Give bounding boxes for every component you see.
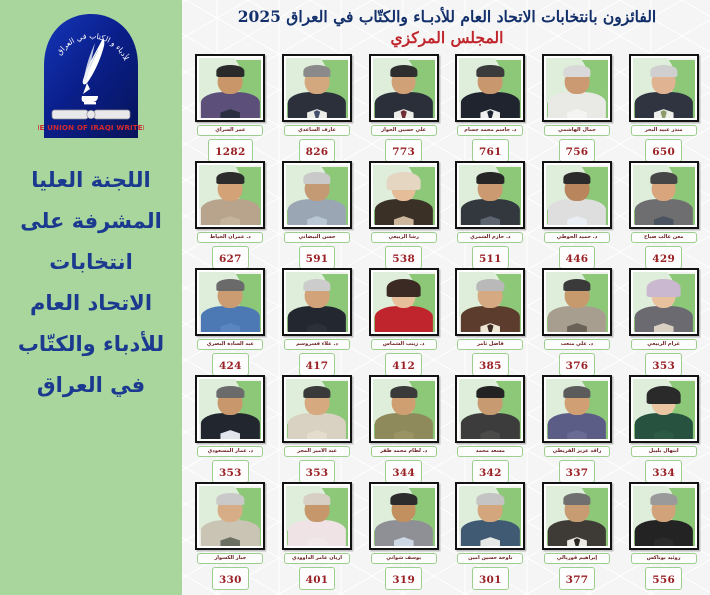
winner-name: مسعد محمد	[462, 448, 518, 454]
portrait-torso	[461, 92, 519, 118]
portrait-torso	[375, 199, 433, 225]
winner-photo-frame	[542, 482, 612, 550]
winner-portrait-silhouette	[633, 272, 695, 332]
winner-cell: معن غالب صباح429	[621, 159, 706, 266]
winner-votes-box: 330	[212, 567, 249, 590]
portrait-torso	[288, 306, 346, 332]
winner-name: رشا الربيعي	[376, 234, 432, 240]
winner-name: عمر السراي	[202, 127, 258, 133]
portrait-torso	[635, 306, 693, 332]
winners-grid: منذر عبيد البحر650جمال الهاشمي756د. جاسم…	[188, 52, 706, 587]
winner-photo	[546, 379, 608, 439]
portrait-hair	[646, 279, 681, 297]
winner-portrait-silhouette	[286, 272, 348, 332]
winner-votes: 353	[652, 360, 675, 372]
winner-portrait-silhouette	[633, 58, 695, 118]
winner-cell: د. عمار المسعودي353	[188, 373, 273, 480]
winner-photo-frame	[455, 482, 525, 550]
winner-photo	[199, 379, 261, 439]
winner-name: جمال الهاشمي	[549, 127, 605, 133]
winner-cell: فاضل ثامر385	[448, 266, 533, 373]
winner-name: د. حميد الحوطي	[549, 234, 605, 240]
winner-name-box: مسعد محمد	[457, 446, 523, 457]
portrait-hair	[217, 279, 244, 291]
winner-votes: 412	[392, 360, 415, 372]
winner-votes: 446	[566, 253, 589, 265]
winner-photo-frame	[195, 375, 265, 443]
winner-photo-frame	[629, 54, 699, 122]
winner-photo	[286, 272, 348, 332]
page-subtitle: المجلس المركزي	[188, 28, 706, 48]
winner-votes-box: 377	[559, 567, 596, 590]
winner-photo-frame	[629, 375, 699, 443]
winner-name-box: د. زينب الشماس	[371, 339, 437, 350]
portrait-torso	[375, 92, 433, 118]
winner-name-box: د. حميد الحوطي	[544, 232, 610, 243]
winner-name-box: د. علاء فسروسم	[284, 339, 350, 350]
winner-photo-frame	[455, 268, 525, 336]
winner-name-box: فاضل ثامر	[457, 339, 523, 350]
winner-votes: 401	[306, 574, 329, 586]
portrait-hair	[217, 172, 244, 184]
sidebar: الاتحاد العام للأدباء و الكتاب في العراق…	[0, 0, 182, 595]
winner-votes-box: 556	[645, 567, 682, 590]
winner-name-box: رشا الربيعي	[371, 232, 437, 243]
winner-name-box: إبراهيم قوربالي	[544, 553, 610, 564]
portrait-hair	[477, 386, 504, 398]
union-of-iraqi-writers-logo-icon: الاتحاد العام للأدباء و الكتاب في العراق…	[38, 10, 144, 138]
winner-photo	[633, 165, 695, 225]
portrait-hair	[390, 386, 417, 398]
winner-name: أريان عامر الداوودي	[289, 555, 345, 561]
winner-cell: جمال الهاشمي756	[535, 52, 620, 159]
winner-photo	[373, 165, 435, 225]
winner-name: معن غالب صباح	[636, 234, 692, 240]
portrait-shirt	[307, 323, 327, 332]
winner-votes: 424	[219, 360, 242, 372]
winner-photo-frame	[369, 161, 439, 229]
winner-photo-frame	[629, 268, 699, 336]
winner-votes: 337	[566, 467, 589, 479]
portrait-hair	[303, 386, 330, 398]
portrait-torso	[548, 199, 606, 225]
portrait-shirt	[220, 537, 240, 546]
portrait-shirt	[394, 216, 414, 225]
winner-name-box: ابتهال بليبل	[631, 446, 697, 457]
portrait-shirt	[567, 430, 587, 439]
winner-name-box: د. حازم الشمري	[457, 232, 523, 243]
winner-cell: أريان عامر الداوودي401	[275, 480, 360, 587]
portrait-torso	[375, 306, 433, 332]
winner-photo-frame	[542, 161, 612, 229]
winner-photo	[546, 486, 608, 546]
winner-photo-frame	[195, 482, 265, 550]
portrait-shirt	[480, 430, 500, 439]
winner-name-box: عبد السادة البصري	[197, 339, 263, 350]
portrait-torso	[201, 413, 259, 439]
winner-name: إبراهيم قوربالي	[549, 555, 605, 561]
portrait-hair	[390, 65, 417, 77]
winner-photo	[633, 379, 695, 439]
winner-cell: عبد الأمير المجر353	[275, 373, 360, 480]
winner-votes: 627	[219, 253, 242, 265]
portrait-torso	[635, 413, 693, 439]
winner-name: د. زينب الشماس	[376, 341, 432, 347]
winner-votes: 429	[652, 253, 675, 265]
winner-portrait-silhouette	[459, 272, 521, 332]
winner-votes-box: 301	[472, 567, 509, 590]
portrait-torso	[461, 306, 519, 332]
winner-photo	[459, 58, 521, 118]
winner-portrait-silhouette	[199, 486, 261, 546]
winner-photo	[199, 58, 261, 118]
portrait-torso	[461, 413, 519, 439]
winner-name-box: علي حسين الخواز	[371, 125, 437, 136]
portrait-hair	[563, 279, 590, 291]
winner-name: د. علاء فسروسم	[289, 341, 345, 347]
winner-portrait-silhouette	[373, 165, 435, 225]
portrait-hair	[650, 172, 677, 184]
winner-photo	[373, 486, 435, 546]
winner-name-box: رافد عزيز الفريطي	[544, 446, 610, 457]
winner-name-box: أريان عامر الداوودي	[284, 553, 350, 564]
portrait-torso	[201, 520, 259, 546]
winner-photo	[373, 58, 435, 118]
winner-photo	[459, 486, 521, 546]
winner-votes: 773	[392, 146, 415, 158]
winner-votes: 344	[392, 467, 415, 479]
portrait-shirt	[654, 430, 674, 439]
portrait-hair	[563, 386, 590, 398]
winner-votes: 756	[566, 146, 589, 158]
portrait-shirt	[220, 216, 240, 225]
winner-portrait-silhouette	[286, 165, 348, 225]
winner-votes: 353	[219, 467, 242, 479]
winner-votes: 377	[566, 574, 589, 586]
winner-cell: غرام الربيعي353	[621, 266, 706, 373]
winner-votes: 353	[306, 467, 329, 479]
winner-photo-frame	[542, 268, 612, 336]
winner-cell: روئيد بوناكس556	[621, 480, 706, 587]
portrait-torso	[201, 306, 259, 332]
winner-name-box: عبد الأمير المجر	[284, 446, 350, 457]
portrait-hair	[477, 493, 504, 505]
winner-name: عبد السادة البصري	[202, 341, 258, 347]
winner-portrait-silhouette	[199, 379, 261, 439]
winner-photo	[199, 486, 261, 546]
portrait-shirt	[307, 216, 327, 225]
winner-photo	[286, 379, 348, 439]
winner-cell: عبد السادة البصري424	[188, 266, 273, 373]
winner-photo	[633, 58, 695, 118]
portrait-torso	[461, 199, 519, 225]
portrait-torso	[288, 92, 346, 118]
winner-cell: د. علاء فسروسم417	[275, 266, 360, 373]
portrait-shirt	[220, 430, 240, 439]
winner-name: د. عمار المسعودي	[202, 448, 258, 454]
committee-line: في العراق	[4, 365, 178, 406]
winner-name-box: روئيد بوناكس	[631, 553, 697, 564]
poster-header: الفائزون بانتخابات الاتحاد العام للأدبـا…	[188, 5, 706, 48]
portrait-torso	[548, 306, 606, 332]
winner-cell: علي حسين الخواز773	[361, 52, 446, 159]
winner-portrait-silhouette	[286, 379, 348, 439]
winner-name-box: د. علي متعب	[544, 339, 610, 350]
portrait-shirt	[654, 323, 674, 332]
winner-photo	[459, 379, 521, 439]
portrait-shirt	[307, 537, 327, 546]
winner-name: ناوخة حسين أمين	[462, 555, 518, 561]
portrait-torso	[461, 520, 519, 546]
winner-portrait-silhouette	[459, 58, 521, 118]
winner-photo-frame	[369, 375, 439, 443]
committee-line: انتخابات	[4, 242, 178, 283]
winner-name: د. حازم الشمري	[462, 234, 518, 240]
winner-photo-frame	[629, 161, 699, 229]
portrait-hair	[386, 172, 421, 190]
portrait-torso	[201, 92, 259, 118]
winner-votes: 301	[479, 574, 502, 586]
winner-photo	[373, 272, 435, 332]
winner-name: د. لطام محمد ظفر	[376, 448, 432, 454]
portrait-torso	[288, 199, 346, 225]
winner-photo	[633, 272, 695, 332]
winner-photo-frame	[195, 54, 265, 122]
winner-name: علي حسين الخواز	[376, 127, 432, 133]
winner-name-box: يوسف شواني	[371, 553, 437, 564]
winner-photo	[546, 165, 608, 225]
winner-votes: 319	[392, 574, 415, 586]
portrait-shirt	[480, 216, 500, 225]
winner-votes: 538	[392, 253, 415, 265]
winner-name: جبار الكسوار	[202, 555, 258, 561]
winner-cell: ابتهال بليبل334	[621, 373, 706, 480]
winner-name-box: ناوخة حسين أمين	[457, 553, 523, 564]
winner-portrait-silhouette	[199, 58, 261, 118]
winner-portrait-silhouette	[199, 272, 261, 332]
winner-name: د. عمران الخياط	[202, 234, 258, 240]
winner-photo	[373, 379, 435, 439]
winner-name: عبد الأمير المجر	[289, 448, 345, 454]
winner-photo	[546, 58, 608, 118]
winner-portrait-silhouette	[373, 379, 435, 439]
winner-cell: د. عمران الخياط627	[188, 159, 273, 266]
winner-cell: عارف الساعدي826	[275, 52, 360, 159]
winner-photo	[286, 58, 348, 118]
portrait-torso	[548, 413, 606, 439]
winner-cell: د. زينب الشماس412	[361, 266, 446, 373]
portrait-hair	[217, 493, 244, 505]
portrait-shirt	[220, 323, 240, 332]
winner-portrait-silhouette	[286, 486, 348, 546]
winner-photo-frame	[369, 482, 439, 550]
winner-name-box: منذر عبيد البحر	[631, 125, 697, 136]
winner-photo-frame	[455, 161, 525, 229]
winner-photo	[199, 272, 261, 332]
winner-votes: 385	[479, 360, 502, 372]
portrait-hair	[477, 172, 504, 184]
portrait-hair	[390, 493, 417, 505]
winner-name: غرام الربيعي	[636, 341, 692, 347]
winner-photo-frame	[282, 482, 352, 550]
portrait-hair	[477, 279, 504, 291]
portrait-hair	[563, 65, 590, 77]
winner-portrait-silhouette	[373, 272, 435, 332]
portrait-shirt	[654, 216, 674, 225]
winner-votes: 376	[566, 360, 589, 372]
portrait-torso	[288, 413, 346, 439]
portrait-torso	[635, 92, 693, 118]
winner-name-box: جبار الكسوار	[197, 553, 263, 564]
winner-name: روئيد بوناكس	[636, 555, 692, 561]
winner-name-box: عارف الساعدي	[284, 125, 350, 136]
winner-name: منذر عبيد البحر	[636, 127, 692, 133]
winner-photo-frame	[542, 54, 612, 122]
portrait-torso	[548, 520, 606, 546]
winner-name-box: معن غالب صباح	[631, 232, 697, 243]
portrait-shirt	[307, 430, 327, 439]
portrait-hair	[303, 65, 330, 77]
svg-text:THE UNION OF IRAQI WRITERS: THE UNION OF IRAQI WRITERS	[38, 123, 144, 132]
portrait-shirt	[567, 109, 587, 118]
winner-votes-box: 401	[299, 567, 336, 590]
content-area: الفائزون بانتخابات الاتحاد العام للأدبـا…	[182, 0, 710, 595]
winner-votes: 511	[479, 253, 502, 265]
winner-photo	[286, 165, 348, 225]
winner-photo-frame	[369, 54, 439, 122]
winner-cell: رافد عزيز الفريطي337	[535, 373, 620, 480]
committee-line: للأدباء والكتّاب	[4, 324, 178, 365]
winner-cell: د. لطام محمد ظفر344	[361, 373, 446, 480]
winner-name: فاضل ثامر	[462, 341, 518, 347]
winner-portrait-silhouette	[199, 165, 261, 225]
winner-name-box: حسن البيضاني	[284, 232, 350, 243]
winner-name-box: جمال الهاشمي	[544, 125, 610, 136]
committee-line: اللجنة العليا	[4, 160, 178, 201]
winner-votes: 591	[306, 253, 329, 265]
portrait-torso	[548, 92, 606, 118]
winner-cell: حسن البيضاني591	[275, 159, 360, 266]
winner-photo	[546, 272, 608, 332]
winner-cell: د. علي متعب376	[535, 266, 620, 373]
winner-cell: عمر السراي1282	[188, 52, 273, 159]
portrait-shirt	[394, 537, 414, 546]
committee-line: المشرفة على	[4, 201, 178, 242]
portrait-hair	[303, 279, 330, 291]
winner-photo-frame	[542, 375, 612, 443]
winner-portrait-silhouette	[546, 486, 608, 546]
winner-photo-frame	[195, 161, 265, 229]
winner-name: د. جاسم محمد جسام	[462, 127, 518, 133]
winner-name-box: عمر السراي	[197, 125, 263, 136]
portrait-hair	[563, 493, 590, 505]
winner-votes: 826	[306, 146, 329, 158]
winner-votes: 761	[479, 146, 502, 158]
winner-votes: 342	[479, 467, 502, 479]
winner-portrait-silhouette	[459, 379, 521, 439]
winner-photo	[199, 165, 261, 225]
winner-votes: 650	[652, 146, 675, 158]
portrait-hair	[303, 493, 330, 505]
winner-name-box: د. عمران الخياط	[197, 232, 263, 243]
winner-cell: د. حازم الشمري511	[448, 159, 533, 266]
winner-name-box: د. لطام محمد ظفر	[371, 446, 437, 457]
portrait-torso	[635, 199, 693, 225]
winner-photo-frame	[195, 268, 265, 336]
winner-portrait-silhouette	[459, 486, 521, 546]
portrait-shirt	[654, 537, 674, 546]
portrait-hair	[303, 172, 330, 184]
portrait-hair	[650, 493, 677, 505]
winner-photo	[459, 165, 521, 225]
winner-portrait-silhouette	[546, 272, 608, 332]
portrait-torso	[375, 520, 433, 546]
committee-title: اللجنة العليا المشرفة على انتخابات الاتح…	[4, 160, 178, 406]
winner-cell: د. حميد الحوطي446	[535, 159, 620, 266]
winner-portrait-silhouette	[286, 58, 348, 118]
winner-portrait-silhouette	[546, 58, 608, 118]
portrait-hair	[477, 65, 504, 77]
winner-portrait-silhouette	[373, 58, 435, 118]
portrait-torso	[635, 520, 693, 546]
winner-name: يوسف شواني	[376, 555, 432, 561]
winner-cell: د. جاسم محمد جسام761	[448, 52, 533, 159]
winner-portrait-silhouette	[633, 379, 695, 439]
page-title: الفائزون بانتخابات الاتحاد العام للأدبـا…	[188, 7, 706, 28]
portrait-torso	[201, 199, 259, 225]
winner-name: عارف الساعدي	[289, 127, 345, 133]
winner-photo-frame	[282, 54, 352, 122]
winner-votes: 1282	[215, 146, 245, 158]
winner-photo-frame	[455, 54, 525, 122]
portrait-shirt	[567, 216, 587, 225]
winner-name-box: غرام الربيعي	[631, 339, 697, 350]
winner-photo-frame	[282, 268, 352, 336]
winner-photo-frame	[282, 161, 352, 229]
winner-name-box: د. عمار المسعودي	[197, 446, 263, 457]
winner-name: حسن البيضاني	[289, 234, 345, 240]
portrait-hair	[217, 65, 244, 77]
winner-portrait-silhouette	[546, 165, 608, 225]
winner-cell: إبراهيم قوربالي377	[535, 480, 620, 587]
portrait-torso	[288, 520, 346, 546]
winner-portrait-silhouette	[633, 486, 695, 546]
winner-name: د. علي متعب	[549, 341, 605, 347]
winner-cell: ناوخة حسين أمين301	[448, 480, 533, 587]
winner-name: ابتهال بليبل	[636, 448, 692, 454]
winner-portrait-silhouette	[546, 379, 608, 439]
winner-portrait-silhouette	[373, 486, 435, 546]
portrait-shirt	[394, 430, 414, 439]
winner-votes: 334	[652, 467, 675, 479]
winner-votes: 556	[652, 574, 675, 586]
winner-portrait-silhouette	[633, 165, 695, 225]
portrait-hair	[386, 279, 421, 297]
winner-name-box: د. جاسم محمد جسام	[457, 125, 523, 136]
union-logo: الاتحاد العام للأدباء و الكتاب في العراق…	[31, 10, 151, 142]
winner-portrait-silhouette	[459, 165, 521, 225]
winner-photo-frame	[455, 375, 525, 443]
winner-photo	[459, 272, 521, 332]
winner-photo-frame	[282, 375, 352, 443]
portrait-hair	[646, 386, 681, 404]
election-results-poster: الاتحاد العام للأدباء و الكتاب في العراق…	[0, 0, 710, 595]
portrait-shirt	[480, 537, 500, 546]
winner-votes: 417	[306, 360, 329, 372]
winner-photo-frame	[369, 268, 439, 336]
winner-cell: منذر عبيد البحر650	[621, 52, 706, 159]
winner-cell: يوسف شواني319	[361, 480, 446, 587]
